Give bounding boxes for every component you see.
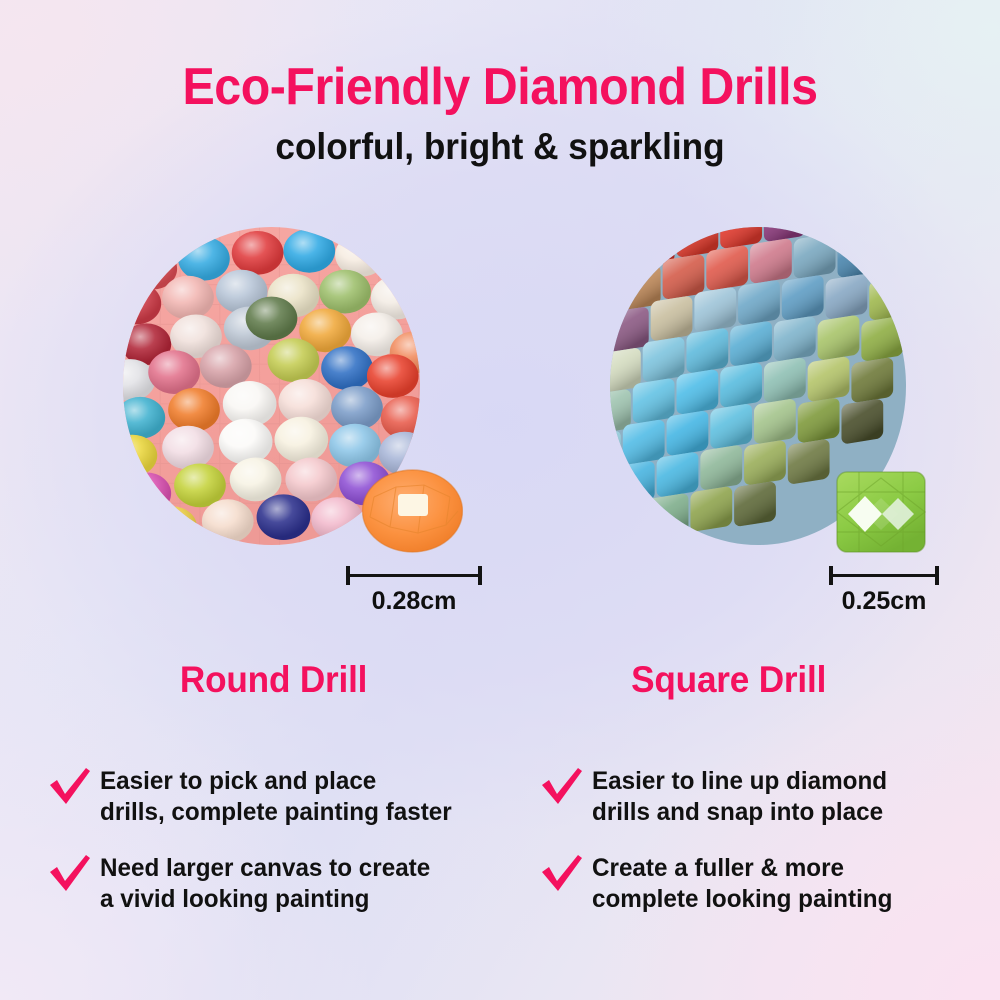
measure-line: [348, 574, 480, 577]
orange-round-drill-gem: [362, 469, 463, 553]
check-icon: [48, 855, 92, 895]
benefit-line: Need larger canvas to create: [100, 854, 430, 882]
benefit-text: Easier to pick and place drills, complet…: [100, 766, 452, 827]
square-size-label: 0.25cm: [828, 587, 940, 616]
measure-cap-right: [935, 566, 939, 585]
square-measure-bar: [828, 566, 940, 584]
check-icon: [540, 768, 584, 808]
square-drill-measurement: 0.25cm: [828, 566, 940, 616]
benefit-item: Easier to pick and place drills, complet…: [48, 766, 518, 827]
benefit-line: Easier to pick and place: [100, 767, 376, 795]
benefit-line: Create a fuller & more: [592, 854, 844, 882]
round-drill-measurement: 0.28cm: [345, 566, 483, 616]
round-measure-bar: [345, 566, 483, 584]
round-size-label: 0.28cm: [345, 587, 483, 616]
benefit-text: Easier to line up diamond drills and sna…: [592, 766, 887, 827]
benefit-item: Need larger canvas to create a vivid loo…: [48, 853, 518, 914]
benefit-line: complete looking painting: [592, 885, 892, 913]
page-subtitle: colorful, bright & sparkling: [25, 127, 975, 168]
benefit-line: drills and snap into place: [592, 798, 883, 826]
check-icon: [540, 855, 584, 895]
benefit-line: a vivid looking painting: [100, 885, 369, 913]
round-drill-benefits: Easier to pick and place drills, complet…: [48, 766, 518, 940]
benefit-line: drills, complete painting faster: [100, 798, 452, 826]
square-drill-benefits: Easier to line up diamond drills and sna…: [540, 766, 995, 940]
benefit-line: Easier to line up diamond: [592, 767, 887, 795]
green-square-drill-gem: [834, 468, 928, 556]
benefit-text: Create a fuller & more complete looking …: [592, 853, 892, 914]
check-icon: [48, 768, 92, 808]
measure-line: [831, 574, 937, 577]
infographic-canvas: Eco-Friendly Diamond Drills colorful, br…: [0, 0, 1000, 1000]
benefit-item: Create a fuller & more complete looking …: [540, 853, 995, 914]
page-title: Eco-Friendly Diamond Drills: [35, 60, 965, 115]
round-drill-heading: Round Drill: [180, 659, 367, 701]
measure-cap-right: [478, 566, 482, 585]
square-drill-heading: Square Drill: [631, 659, 826, 701]
headline-block: Eco-Friendly Diamond Drills colorful, br…: [0, 60, 1000, 167]
benefit-text: Need larger canvas to create a vivid loo…: [100, 853, 430, 914]
benefit-item: Easier to line up diamond drills and sna…: [540, 766, 995, 827]
